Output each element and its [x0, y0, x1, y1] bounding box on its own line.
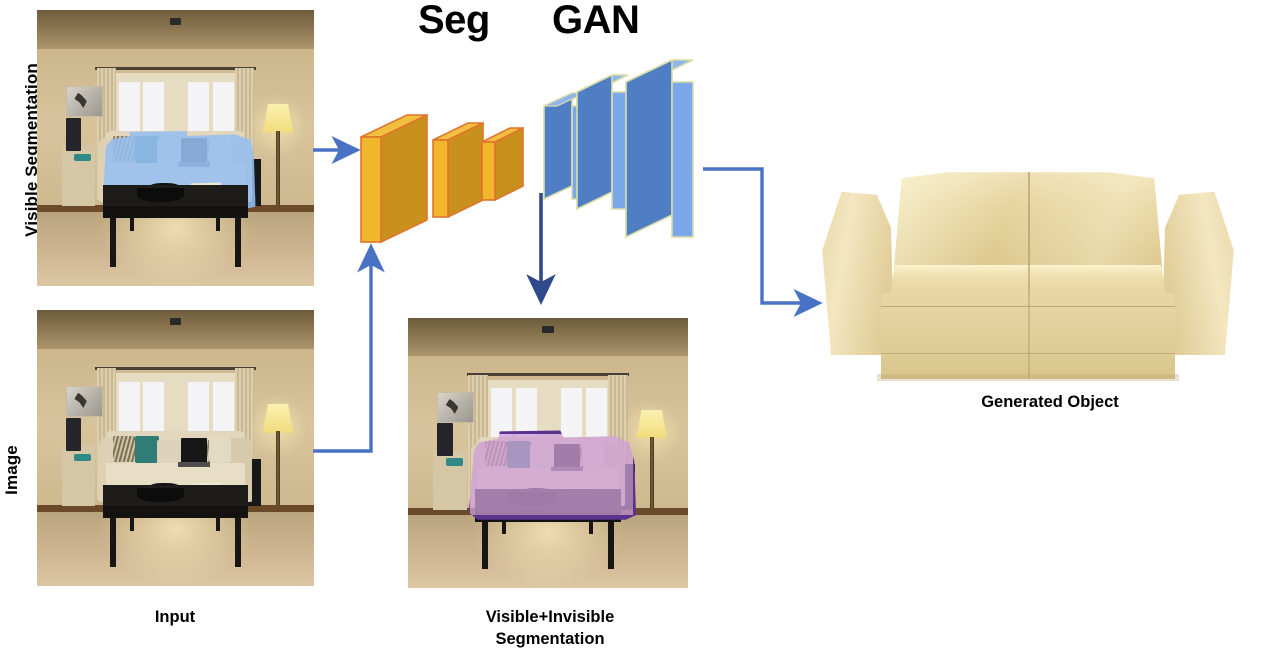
scene-lamp-pole: [276, 131, 280, 206]
visible-segmentation-panel: [37, 10, 314, 286]
scene-table-leg: [130, 517, 134, 531]
caption-amodal-segmentation: Visible+Invisible Segmentation: [400, 607, 700, 651]
network-title-gan: GAN: [552, 0, 639, 40]
scene-lamp-pole: [650, 437, 654, 510]
scene-teal-object: [74, 154, 91, 162]
caption-generated-object: Generated Object: [830, 392, 1270, 414]
sofa-ground-shadow: [877, 374, 1179, 380]
scene-monitor: [66, 418, 81, 451]
scene-floor-light: [98, 514, 253, 586]
gan-block-3: [620, 52, 735, 262]
scene-curtain-rod: [95, 67, 256, 70]
scene-sofa-cushion: [113, 436, 135, 462]
scene-bowl: [137, 188, 184, 202]
scene-laptop: [181, 438, 207, 463]
arrow-image-to-seg: [313, 248, 371, 451]
scene-lamp-shade: [263, 104, 293, 133]
sofa-back-seam: [1028, 172, 1030, 271]
scene-table-leg: [130, 217, 134, 231]
scene-table-apron: [103, 506, 247, 518]
scene-monitor: [437, 423, 452, 455]
caption-amodal-line-2: Segmentation: [400, 629, 700, 651]
scene-ceiling-fixture: [170, 318, 181, 325]
input-panel: [37, 310, 314, 586]
caption-input: Input: [60, 607, 290, 629]
scene-bowl: [137, 488, 184, 502]
scene-table-leg: [216, 217, 220, 231]
sofa-front-seam-lower: [881, 353, 1175, 355]
scene-table-leg: [608, 521, 614, 570]
generated-object-sofa: [818, 168, 1238, 383]
scene-teal-object: [446, 458, 463, 466]
scene-floor-light: [470, 518, 627, 588]
scene-ceiling: [408, 318, 688, 361]
scene-floor-light: [98, 214, 253, 286]
scene-sofa-cushion: [209, 436, 231, 462]
scene-ceiling: [37, 10, 314, 54]
scene-curtain-rod: [95, 367, 256, 370]
amodal-segmentation-mask: [465, 429, 637, 520]
scene-laptop-base: [178, 462, 210, 467]
amodal-segmentation-panel: [408, 318, 688, 588]
caption-amodal-line-1: Visible+Invisible: [400, 607, 700, 629]
scene-curtain-rod: [467, 373, 629, 376]
network-title-seg: Seg: [418, 0, 490, 40]
scene-ceiling: [37, 310, 314, 354]
scene-table-leg: [235, 217, 241, 267]
scene-table-leg: [216, 517, 220, 531]
scene-table-leg: [589, 521, 593, 535]
scene-sofa-cushion: [135, 436, 159, 464]
scene-table-leg: [482, 521, 488, 570]
scene-table-leg: [110, 517, 116, 567]
scene-table-leg: [110, 217, 116, 267]
scene-monitor: [66, 118, 81, 151]
scene-table-apron: [103, 206, 247, 218]
sofa-front-seam-center: [1028, 293, 1030, 379]
scene-ceiling-fixture: [542, 326, 553, 333]
scene-table-leg: [235, 517, 241, 567]
scene-table-leg: [502, 521, 506, 535]
scene-teal-object: [74, 454, 91, 462]
scene-lamp-shade: [263, 404, 293, 433]
scene-lamp-shade: [636, 410, 667, 438]
scene-lamp-pole: [276, 431, 280, 506]
row-label-image: Image: [2, 410, 22, 530]
scene-ceiling-fixture: [170, 18, 181, 25]
